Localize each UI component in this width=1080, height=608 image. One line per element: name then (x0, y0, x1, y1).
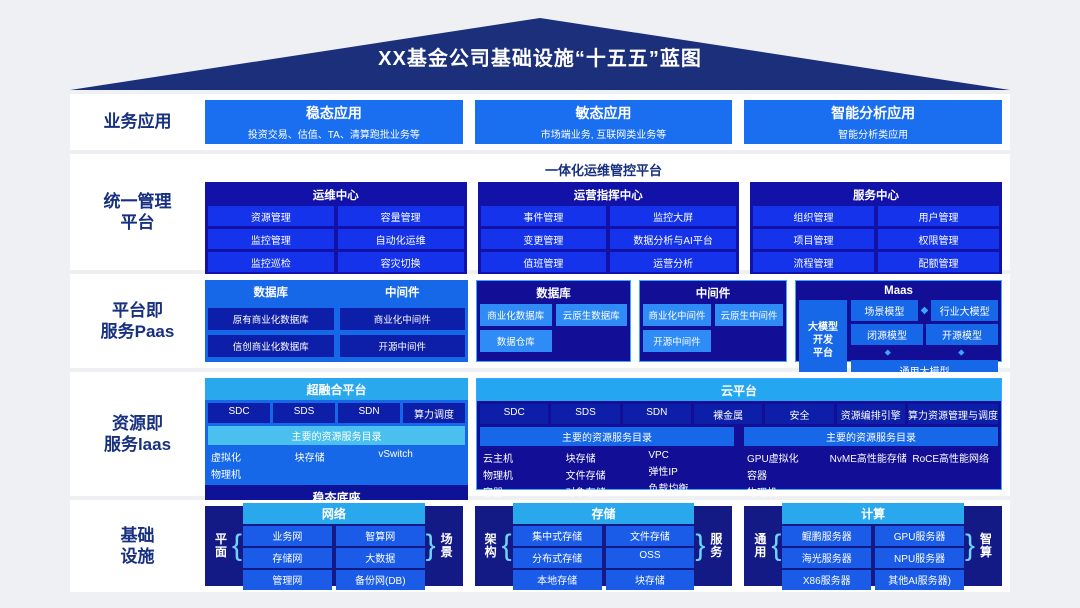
arrow-up-group: ⬥ ⬥ (851, 348, 998, 357)
row-label-line1: 基础 (121, 525, 155, 546)
brace-right-icon: } (694, 534, 706, 558)
infra-item[interactable]: 文件存储 (606, 526, 695, 546)
center-title: 运营指挥中心 (481, 185, 737, 206)
infra-left-label-text: 架构 (481, 533, 501, 559)
iaas-card-hyperconverged[interactable]: 超融合平台 SDC SDS SDN 算力调度 主要的资源服务目录 虚拟化 物理机 (205, 378, 468, 490)
iaas-tag[interactable]: SDN (623, 404, 691, 424)
iaas-tag[interactable]: SDC (208, 403, 270, 423)
brace-right-icon: } (425, 534, 437, 558)
row-label-line1: 平台即 (101, 300, 175, 321)
infra-item[interactable]: 智算网 (336, 526, 425, 546)
iaas-service: 块存储 (566, 450, 649, 465)
infra-right-label-network: 场景 (437, 533, 457, 559)
row-business-application: 业务应用 稳态应用 投资交易、估值、TA、清算跑批业务等 敏态应用 市场端业务,… (70, 94, 1010, 150)
row-label-management: 统一管理 平台 (70, 154, 205, 270)
row-body-infrastructure: 平面 { 网络 业务网 智算网 存储网 大数据 (205, 500, 1010, 592)
center-item[interactable]: 容灾切换 (338, 252, 464, 272)
infra-title-storage: 存储 (513, 503, 695, 524)
paas-item[interactable]: 开源中间件 (340, 335, 466, 357)
maas-dev-platform[interactable]: 大模型 开发 平台 (799, 300, 847, 381)
paas-card-agile-middleware[interactable]: 中间件 商业化中间件 云原生中间件 开源中间件 (639, 280, 787, 362)
paas-group-title: 中间件 (643, 284, 783, 304)
infra-item[interactable]: 块存储 (606, 570, 695, 590)
app-card-agile[interactable]: 敏态应用 市场端业务, 互联网类业务等 (475, 100, 733, 144)
arrow-up-icon: ⬥ (851, 348, 925, 357)
row-body-iaas: 超融合平台 SDC SDS SDN 算力调度 主要的资源服务目录 虚拟化 物理机 (205, 372, 1010, 496)
catalog-bar-hyperconverged: 主要的资源服务目录 (208, 426, 465, 445)
center-item[interactable]: 项目管理 (753, 229, 874, 249)
center-item[interactable]: 数据分析与AI平台 (610, 229, 736, 249)
iaas-service: 容器 (747, 467, 830, 482)
infra-left-label-network: 平面 (211, 533, 231, 559)
iaas-tag[interactable]: 资源编排引擎 (837, 404, 905, 424)
iaas-service: vSwitch (378, 449, 462, 460)
cloud-pane-left: 主要的资源服务目录 云主机 物理机 容器 块存储 文件存储 (477, 424, 737, 503)
row-label-line1: 统一管理 (104, 191, 172, 212)
page-title: XX基金公司基础设施“十五五”蓝图 (70, 42, 1010, 71)
paas-item-placeholder (556, 330, 628, 352)
infra-right-label-text: 服务 (706, 533, 726, 559)
iaas-tag[interactable]: SDN (338, 403, 400, 423)
iaas-service: 负载均衡 (648, 480, 731, 495)
row-label-line2: 服务laas (104, 434, 171, 455)
row-body-paas: 数据库 原有商业化数据库 信创商业化数据库 中间件 商业化中间件 开源中间件 数… (205, 274, 1010, 368)
center-item[interactable]: 监控管理 (208, 229, 334, 249)
center-title: 运维中心 (208, 185, 464, 206)
iaas-service: 云主机 (483, 450, 566, 465)
infra-item[interactable]: 本地存储 (513, 570, 602, 590)
row-unified-management: 统一管理 平台 一体化运维管控平台 运维中心 资源管理 容量管理 监控管理 (70, 154, 1010, 270)
infra-item[interactable]: 管理网 (243, 570, 332, 590)
blueprint-diagram: XX基金公司基础设施“十五五”蓝图 业务应用 稳态应用 投资交易、估值、TA、清… (0, 0, 1080, 608)
iaas-tag[interactable]: SDC (480, 404, 548, 424)
iaas-service: 虚拟化 (211, 449, 295, 464)
iaas-service: 弹性IP (648, 463, 731, 478)
maas-dev-platform-line3: 平台 (808, 347, 838, 360)
center-item[interactable]: 变更管理 (481, 229, 607, 249)
center-title: 服务中心 (753, 185, 999, 206)
iaas-service: 对象存储 (566, 484, 649, 499)
center-item[interactable]: 值班管理 (481, 252, 607, 272)
infra-right-label-storage: 服务 (706, 533, 726, 559)
iaas-service: NvME高性能存储 (830, 450, 913, 465)
center-item[interactable]: 权限管理 (878, 229, 999, 249)
infra-item[interactable]: 鲲鹏服务器 (782, 526, 871, 546)
center-card-service[interactable]: 服务中心 组织管理 用户管理 项目管理 权限管理 流程管理 配额管理 (750, 182, 1002, 275)
arrow-right-icon: ◆ (921, 306, 929, 316)
row-label-infrastructure: 基础 设施 (70, 500, 205, 592)
infra-item[interactable]: X86服务器 (782, 570, 871, 590)
row-label-business: 业务应用 (70, 94, 205, 150)
infra-left-label-storage: 架构 (481, 533, 501, 559)
infra-title-network: 网络 (243, 503, 425, 524)
infra-item[interactable]: NPU服务器 (875, 548, 964, 568)
paas-item[interactable]: 云原生中间件 (715, 304, 783, 326)
arrow-up-icon: ⬥ (925, 348, 999, 357)
iaas-tag[interactable]: SDS (551, 404, 619, 424)
row-infrastructure: 基础 设施 平面 { 网络 业务网 智算网 (70, 500, 1010, 592)
center-item[interactable]: 监控巡检 (208, 252, 334, 272)
row-iaas: 资源即 服务laas 超融合平台 SDC SDS SDN 算力调度 主要的资源服… (70, 372, 1010, 496)
iaas-service: RoCE高性能网络 (912, 450, 995, 465)
iaas-service: VPC (648, 450, 731, 461)
app-card-subtitle: 市场端业务, 互联网类业务等 (541, 126, 667, 141)
center-item[interactable]: 监控大屏 (610, 206, 736, 226)
center-card-ops[interactable]: 运维中心 资源管理 容量管理 监控管理 自动化运维 监控巡检 容灾切换 (205, 182, 467, 275)
app-card-subtitle: 智能分析类应用 (838, 126, 908, 141)
brace-left-icon: { (231, 534, 243, 558)
infra-item[interactable]: 存储网 (243, 548, 332, 568)
paas-card-maas[interactable]: Maas 大模型 开发 平台 场景模型 ◆ (795, 280, 1002, 362)
iaas-service: 物理机 (483, 467, 566, 482)
infra-card-storage[interactable]: 架构 { 存储 集中式存储 文件存储 分布式存储 OSS (475, 506, 733, 586)
paas-item[interactable]: 开源中间件 (643, 330, 711, 352)
paas-group-title: 中间件 (340, 283, 466, 303)
center-item[interactable]: 事件管理 (481, 206, 607, 226)
catalog-bar-cloud-left: 主要的资源服务目录 (480, 427, 734, 446)
roof-banner: XX基金公司基础设施“十五五”蓝图 (0, 0, 1080, 92)
iaas-service: 物理机 (211, 466, 295, 481)
maas-model-closed-source[interactable]: 闭源模型 (851, 324, 923, 345)
maas-dev-platform-line2: 开发 (808, 334, 838, 347)
iaas-service: 块存储 (295, 449, 379, 464)
brace-right-icon: } (964, 534, 976, 558)
cloud-pane-right: 主要的资源服务目录 GPU虚拟化 容器 物理机 NvME高性能存储 (741, 424, 1001, 503)
maas-model-scenario[interactable]: 场景模型 (851, 300, 918, 321)
iaas-tag[interactable]: SDS (273, 403, 335, 423)
row-label-paas: 平台即 服务Paas (70, 274, 205, 368)
iaas-service: 物理机 (747, 484, 830, 499)
infra-item[interactable]: 备份网(DB) (336, 570, 425, 590)
paas-item-placeholder (715, 330, 783, 352)
app-card-subtitle: 投资交易、估值、TA、清算跑批业务等 (248, 126, 420, 141)
maas-model-industry[interactable]: 行业大模型 (931, 300, 998, 321)
row-body-business: 稳态应用 投资交易、估值、TA、清算跑批业务等 敏态应用 市场端业务, 互联网类… (205, 94, 1010, 150)
center-item[interactable]: 组织管理 (753, 206, 874, 226)
infra-item[interactable]: 海光服务器 (782, 548, 871, 568)
maas-model-open-source[interactable]: 开源模型 (926, 324, 998, 345)
brace-left-icon: { (770, 534, 782, 558)
platform-title-hyperconverged: 超融合平台 (205, 378, 468, 400)
paas-item[interactable]: 商业化中间件 (340, 308, 466, 330)
center-item[interactable]: 用户管理 (878, 206, 999, 226)
app-card-title: 稳态应用 (306, 103, 362, 123)
iaas-tag[interactable]: 算力调度 (403, 403, 465, 423)
row-label-iaas: 资源即 服务laas (70, 372, 205, 496)
iaas-card-cloud-platform[interactable]: 云平台 SDC SDS SDN 裸金属 安全 资源编排引擎 算力资源管理与调度 … (476, 378, 1002, 490)
infra-item[interactable]: GPU服务器 (875, 526, 964, 546)
center-item[interactable]: 流程管理 (753, 252, 874, 272)
paas-item[interactable]: 云原生数据库 (556, 304, 628, 326)
paas-card-agile-database[interactable]: 数据库 商业化数据库 云原生数据库 数据仓库 (476, 280, 631, 362)
brace-left-icon: { (501, 534, 513, 558)
infra-right-label-compute: 智算 (976, 533, 996, 559)
infra-item[interactable]: 其他AI服务器) (875, 570, 964, 590)
platform-title-cloud: 云平台 (477, 379, 1001, 401)
paas-card-stable[interactable]: 数据库 原有商业化数据库 信创商业化数据库 中间件 商业化中间件 开源中间件 (205, 280, 468, 362)
iaas-tag[interactable]: 裸金属 (694, 404, 762, 424)
paas-item[interactable]: 商业化中间件 (643, 304, 711, 326)
iaas-tag[interactable]: 安全 (765, 404, 833, 424)
center-item[interactable]: 容量管理 (338, 206, 464, 226)
paas-group-title: 数据库 (208, 283, 334, 303)
infra-item[interactable]: 集中式存储 (513, 526, 602, 546)
center-item[interactable]: 资源管理 (208, 206, 334, 226)
infra-right-label-text: 场景 (437, 533, 457, 559)
infra-item[interactable]: 大数据 (336, 548, 425, 568)
row-label-line2: 服务Paas (101, 321, 175, 342)
infra-card-network[interactable]: 平面 { 网络 业务网 智算网 存储网 大数据 (205, 506, 463, 586)
center-item[interactable]: 运营分析 (610, 252, 736, 272)
iaas-service: GPU虚拟化 (747, 450, 830, 465)
app-card-intelligent-analysis[interactable]: 智能分析应用 智能分析类应用 (744, 100, 1002, 144)
center-item[interactable]: 自动化运维 (338, 229, 464, 249)
infra-item[interactable]: 业务网 (243, 526, 332, 546)
row-label-line2: 平台 (104, 212, 172, 233)
app-card-stable[interactable]: 稳态应用 投资交易、估值、TA、清算跑批业务等 (205, 100, 463, 144)
paas-group-title: 数据库 (480, 284, 627, 304)
app-card-title: 敏态应用 (576, 103, 632, 123)
infra-left-label-text: 平面 (211, 533, 231, 559)
infra-item[interactable]: 分布式存储 (513, 548, 602, 568)
infra-left-label-text: 通用 (750, 533, 770, 559)
row-label-line2: 设施 (121, 546, 155, 567)
infra-card-compute[interactable]: 通用 { 计算 鲲鹏服务器 GPU服务器 海光服务器 NPU服务器 (744, 506, 1002, 586)
paas-item[interactable]: 商业化数据库 (480, 304, 552, 326)
row-paas: 平台即 服务Paas 数据库 原有商业化数据库 信创商业化数据库 中间件 (70, 274, 1010, 368)
center-card-operation-command[interactable]: 运营指挥中心 事件管理 监控大屏 变更管理 数据分析与AI平台 值班管理 运营分 (478, 182, 740, 275)
center-item[interactable]: 配额管理 (878, 252, 999, 272)
paas-item[interactable]: 原有商业化数据库 (208, 308, 334, 330)
iaas-service: 容器 (483, 484, 566, 499)
row-body-management: 一体化运维管控平台 运维中心 资源管理 容量管理 监控管理 自动化运维 (205, 154, 1010, 270)
paas-item[interactable]: 信创商业化数据库 (208, 335, 334, 357)
ops-platform-title: 一体化运维管控平台 (205, 160, 1002, 179)
row-label-line1: 资源即 (104, 413, 171, 434)
infra-item[interactable]: OSS (606, 548, 695, 568)
iaas-tag[interactable]: 算力资源管理与调度 (908, 404, 998, 424)
infra-title-compute: 计算 (782, 503, 964, 524)
maas-title: Maas (799, 284, 998, 300)
paas-item[interactable]: 数据仓库 (480, 330, 552, 352)
iaas-service: 文件存储 (566, 467, 649, 482)
infra-right-label-text: 智算 (976, 533, 996, 559)
maas-dev-platform-line1: 大模型 (808, 321, 838, 334)
infra-left-label-compute: 通用 (750, 533, 770, 559)
catalog-bar-cloud-right: 主要的资源服务目录 (744, 427, 998, 446)
app-card-title: 智能分析应用 (831, 103, 915, 123)
